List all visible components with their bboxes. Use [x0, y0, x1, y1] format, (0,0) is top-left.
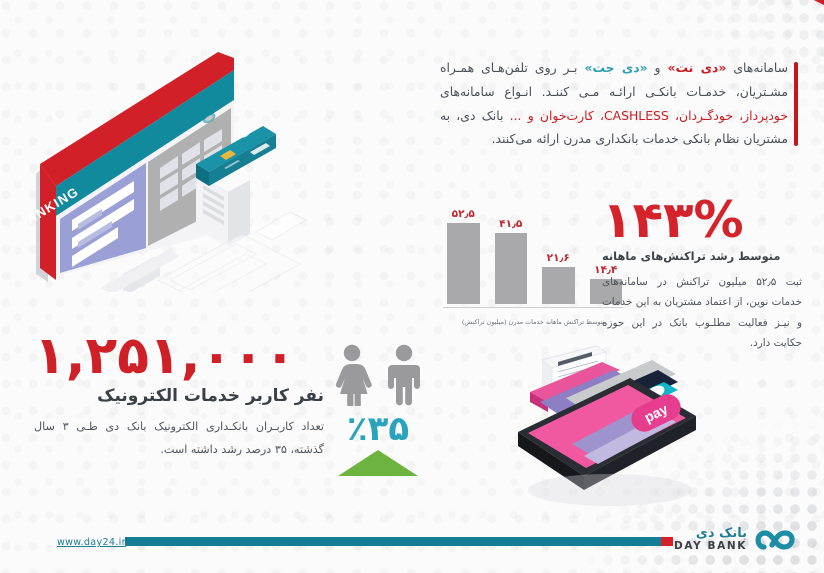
people-icons-row [318, 344, 438, 406]
growth-stat-value: ۱۴۳% [602, 196, 802, 244]
chart-caption: متوسط تراکنش ماهانه خدمات مدرن (میلیون ت… [443, 318, 625, 326]
intro-text-2: و [648, 60, 668, 75]
chart-bars: ۱۴٫۴ ۲۱٫۶ ۴۱٫۵ ۵۲٫۵ [447, 208, 622, 304]
day-bank-logo: بانک دی DAY BANK [674, 525, 798, 555]
users-stat-block: ۱,۲۵۱,۰۰۰ نفر کاربر خدمات الکترونیک تعدا… [34, 330, 324, 462]
chart-bar [542, 267, 575, 304]
footer-teal-bar [125, 537, 665, 546]
logo-text: بانک دی DAY BANK [674, 527, 747, 553]
chart-bar-item: ۴۱٫۵ [495, 208, 528, 304]
chart-bar-item: ۵۲٫۵ [447, 208, 480, 304]
growth-stat-subtitle: متوسط رشد تراکنش‌های ماهانه [602, 249, 802, 263]
infinity-icon [754, 525, 798, 555]
footer-website-link[interactable]: www.day24.ir [57, 537, 126, 548]
bar-value-label: ۴۱٫۵ [499, 218, 522, 230]
up-arrow-icon [338, 450, 418, 476]
chart-baseline [443, 307, 623, 308]
chart-bar [495, 233, 528, 304]
intro-accent-rule [794, 62, 798, 146]
footer: www.day24.ir بانک دی DAY BANK [0, 511, 824, 573]
bar-value-label: ۲۱٫۶ [547, 252, 570, 264]
system-name-dinet: «دی نت» [668, 60, 727, 75]
service-terms-list: خودپرداز، خودگـردان، CASHLESS، کارت‌خوان… [510, 108, 788, 123]
system-name-dijet: «دی جت» [584, 60, 647, 75]
growth-people-block: ٪۳۵ [318, 344, 438, 476]
monthly-transactions-chart: ۱۴٫۴ ۲۱٫۶ ۴۱٫۵ ۵۲٫۵ متوسط تراکنش ماهانه … [443, 196, 628, 326]
chart-bar-item: ۲۱٫۶ [542, 208, 575, 304]
bar-value-label: ۵۲٫۵ [452, 208, 475, 220]
growth-stat-block: ۱۴۳% متوسط رشد تراکنش‌های ماهانه ثبت ۵۲٫… [602, 196, 802, 353]
footer-red-square [661, 537, 673, 546]
users-stat-body: تعداد کاربـران بانکـداری الکترونیک بانک … [34, 416, 324, 462]
chart-bar [447, 223, 480, 304]
mobile-payment-illustration: pay [480, 340, 720, 530]
logo-text-en: DAY BANK [674, 541, 747, 553]
logo-text-fa: بانک دی [674, 527, 747, 542]
male-person-icon [382, 344, 426, 406]
intro-paragraph: سامانه‌های «دی نت» و «دی جت» بـر روی تلف… [440, 56, 798, 151]
intro-text-1: سامانه‌های [726, 60, 788, 75]
users-stat-subtitle: نفر کاربر خدمات الکترونیک [34, 386, 324, 406]
online-banking-illustration: ONLINE BANKING [28, 52, 338, 292]
female-person-icon [330, 344, 374, 406]
people-percent-value: ٪۳۵ [318, 412, 438, 446]
users-stat-value: ۱,۲۵۱,۰۰۰ [34, 330, 324, 382]
